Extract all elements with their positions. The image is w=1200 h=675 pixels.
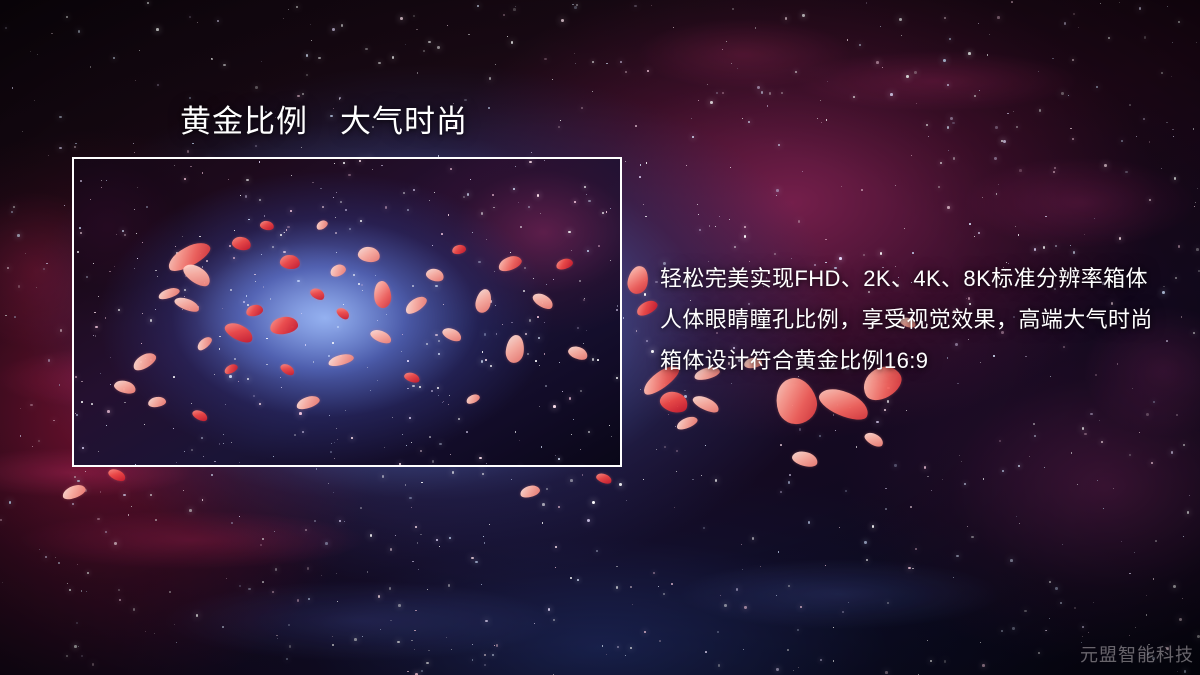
star [863, 254, 865, 256]
star [32, 446, 33, 447]
star [1182, 598, 1183, 599]
star [533, 278, 534, 279]
rose-petal [222, 319, 256, 346]
star [25, 253, 26, 254]
star [337, 326, 339, 328]
star [503, 14, 506, 17]
star [74, 645, 77, 648]
star [150, 319, 152, 321]
star [283, 232, 284, 233]
star [248, 588, 250, 590]
star [947, 126, 949, 128]
star [412, 385, 414, 387]
star [996, 193, 998, 195]
star [77, 564, 78, 565]
star [588, 431, 590, 433]
star [1162, 291, 1165, 294]
star [390, 620, 391, 621]
star [882, 67, 883, 68]
star [1090, 413, 1093, 416]
star [413, 189, 416, 192]
star [411, 507, 412, 508]
star [819, 435, 821, 437]
star [203, 456, 204, 457]
star [489, 524, 491, 526]
star [228, 179, 229, 180]
star [1074, 607, 1076, 609]
star [625, 161, 626, 162]
star [283, 18, 284, 19]
star [802, 14, 804, 16]
star [776, 668, 778, 670]
star [234, 358, 236, 360]
star [623, 317, 625, 319]
star [744, 235, 747, 238]
star [333, 197, 334, 198]
star [76, 622, 78, 624]
star [150, 494, 153, 497]
star [884, 409, 886, 411]
star [189, 509, 192, 512]
star [142, 242, 144, 244]
star [438, 395, 439, 396]
star [59, 384, 60, 385]
star [776, 195, 777, 196]
star [916, 103, 917, 104]
star [644, 631, 646, 633]
star [701, 475, 702, 476]
rose-petal [357, 245, 381, 264]
star [560, 120, 561, 121]
star [196, 614, 199, 617]
rose-petal [245, 303, 264, 317]
star [105, 317, 106, 318]
star [124, 234, 126, 236]
star [7, 267, 9, 269]
star [797, 629, 799, 631]
star [980, 642, 981, 643]
star [192, 143, 194, 145]
star [239, 585, 242, 588]
star [616, 309, 618, 311]
star [1139, 432, 1140, 433]
star [510, 252, 511, 253]
star [778, 144, 780, 146]
star [34, 100, 35, 101]
star [1094, 218, 1096, 220]
star [438, 340, 440, 342]
star [105, 531, 107, 533]
star [482, 473, 484, 475]
star [686, 165, 687, 166]
star [1073, 251, 1075, 253]
star [409, 417, 411, 419]
star [969, 223, 971, 225]
star [367, 571, 368, 572]
star [100, 373, 101, 374]
star [426, 343, 428, 345]
star [275, 568, 277, 570]
star [206, 260, 208, 262]
star [428, 41, 431, 44]
star [778, 551, 780, 553]
star [377, 380, 378, 381]
star [290, 210, 292, 212]
star [1149, 199, 1151, 201]
star [798, 667, 799, 668]
rose-petal [465, 392, 481, 405]
star [1189, 495, 1190, 496]
star [821, 122, 823, 124]
star [716, 92, 718, 94]
star [378, 62, 380, 64]
star [979, 90, 980, 91]
star [485, 359, 487, 361]
star [539, 365, 540, 366]
star [1018, 234, 1020, 236]
star [561, 19, 564, 22]
star [800, 606, 802, 608]
star [596, 550, 598, 552]
star [780, 444, 782, 446]
star [202, 172, 204, 174]
star [574, 53, 575, 54]
star [86, 591, 88, 593]
star [1100, 3, 1101, 4]
star [1033, 423, 1035, 425]
star [592, 358, 594, 360]
star [402, 334, 403, 335]
star [337, 601, 338, 602]
star [848, 602, 849, 603]
star [507, 36, 508, 37]
star [339, 97, 341, 99]
star [555, 567, 556, 568]
star [1129, 454, 1131, 456]
star [222, 626, 224, 628]
star [1161, 72, 1163, 74]
star [362, 636, 363, 637]
star [263, 286, 265, 288]
star [490, 365, 492, 367]
star [742, 569, 743, 570]
star [259, 161, 261, 163]
star [1135, 627, 1136, 628]
star [482, 351, 484, 353]
star [788, 481, 790, 483]
star [156, 28, 159, 31]
star [1052, 58, 1054, 60]
star [261, 61, 262, 62]
star [344, 521, 345, 522]
star [542, 503, 545, 506]
star [333, 492, 334, 493]
star [98, 451, 99, 452]
star [370, 534, 373, 537]
star [274, 531, 275, 532]
rose-petal [441, 325, 464, 344]
star [412, 561, 414, 563]
star [736, 588, 739, 591]
star [887, 400, 890, 403]
star [616, 377, 618, 379]
star [211, 58, 212, 59]
star [899, 18, 902, 21]
star [664, 446, 666, 448]
star [709, 225, 710, 226]
star [833, 414, 835, 416]
star [406, 445, 407, 446]
star [95, 335, 97, 337]
star [114, 542, 117, 545]
star [511, 41, 514, 44]
star [1062, 544, 1063, 545]
star [1173, 585, 1176, 588]
star [496, 644, 499, 647]
star [995, 126, 998, 129]
star [1070, 245, 1071, 246]
star [305, 344, 307, 346]
star [534, 623, 535, 624]
star [66, 16, 68, 18]
star [1144, 36, 1146, 38]
star [1193, 332, 1195, 334]
star [451, 649, 452, 650]
star [574, 6, 577, 9]
star [698, 100, 699, 101]
star [60, 329, 63, 332]
star [53, 420, 55, 422]
star [435, 334, 438, 337]
star [606, 211, 608, 213]
star [297, 95, 300, 98]
star [328, 483, 329, 484]
star [707, 84, 708, 85]
star [956, 555, 959, 558]
star [471, 557, 474, 560]
star [692, 479, 694, 481]
star [335, 217, 336, 218]
star [361, 284, 363, 286]
star [399, 463, 401, 465]
star [176, 462, 177, 463]
star [573, 419, 574, 420]
star [225, 404, 226, 405]
star [412, 285, 414, 287]
star [314, 520, 316, 522]
star [337, 439, 338, 440]
star [110, 357, 111, 358]
star [726, 41, 727, 42]
star [76, 414, 78, 416]
star [37, 54, 38, 55]
rose-petal [634, 298, 659, 318]
star [463, 196, 465, 198]
star [1129, 104, 1131, 106]
star [580, 390, 583, 393]
star [1146, 595, 1147, 596]
star [552, 79, 553, 80]
body-line-3: 箱体设计符合黄金比例16:9 [660, 340, 1153, 381]
star [72, 503, 74, 505]
star [1019, 523, 1020, 524]
rose-petal [223, 362, 239, 375]
star [135, 464, 136, 465]
star [442, 402, 443, 403]
star [286, 229, 288, 231]
star [1175, 277, 1177, 279]
star [281, 387, 282, 388]
rose-petal [691, 392, 721, 415]
star [930, 660, 932, 662]
star [890, 93, 893, 96]
star [710, 101, 713, 104]
rose-petal [497, 253, 524, 273]
star [155, 519, 157, 521]
star [428, 650, 430, 652]
star [730, 167, 731, 168]
star [931, 490, 932, 491]
star [1176, 414, 1178, 416]
star [1104, 164, 1107, 167]
star [336, 428, 337, 429]
star [144, 424, 145, 425]
star [312, 182, 314, 184]
star [470, 179, 471, 180]
star [411, 442, 412, 443]
star [2, 582, 3, 583]
star [774, 253, 776, 255]
star [418, 569, 420, 571]
star [330, 451, 332, 453]
star [74, 476, 77, 479]
star [211, 58, 213, 60]
star [118, 589, 120, 591]
star [574, 201, 576, 203]
star [1143, 118, 1145, 120]
star [742, 118, 744, 120]
star [334, 163, 335, 164]
star [223, 443, 224, 444]
star [405, 44, 406, 45]
star [1096, 86, 1098, 88]
star [106, 180, 107, 181]
star [1108, 37, 1110, 39]
star [544, 353, 545, 354]
star [636, 330, 638, 332]
star [703, 527, 705, 529]
star [798, 220, 801, 223]
star [494, 645, 495, 646]
star [528, 206, 530, 208]
star [77, 480, 79, 482]
star [598, 245, 600, 247]
star [663, 593, 665, 595]
star [400, 17, 403, 20]
star [288, 9, 290, 11]
star [479, 457, 481, 459]
star [106, 425, 107, 426]
star [885, 488, 887, 490]
star [982, 664, 985, 667]
star [895, 185, 896, 186]
star [39, 549, 40, 550]
star [535, 360, 537, 362]
star [539, 406, 540, 407]
star [1113, 488, 1114, 489]
star [450, 454, 451, 455]
star [676, 471, 677, 472]
star [1129, 573, 1131, 575]
star [880, 252, 882, 254]
star [674, 507, 675, 508]
star [1016, 516, 1017, 517]
star [691, 118, 692, 119]
star [924, 466, 927, 469]
star [647, 70, 649, 72]
star [1093, 602, 1094, 603]
star [1097, 480, 1099, 482]
star [288, 624, 290, 626]
star [223, 434, 224, 435]
star [381, 165, 383, 167]
star [845, 490, 847, 492]
star [583, 299, 585, 301]
star [407, 388, 409, 390]
star [321, 575, 322, 576]
star [328, 355, 330, 357]
star [950, 117, 953, 120]
star [191, 449, 193, 451]
star [720, 595, 721, 596]
star [1129, 635, 1130, 636]
star [953, 577, 954, 578]
star [402, 434, 403, 435]
star [741, 544, 742, 545]
star [722, 92, 724, 94]
star [906, 410, 907, 411]
star [537, 194, 539, 196]
star [914, 71, 917, 74]
star [272, 591, 274, 593]
star [95, 326, 98, 329]
star [519, 440, 520, 441]
star [51, 33, 53, 35]
star [109, 271, 111, 273]
star [540, 213, 541, 214]
star [1183, 536, 1184, 537]
star [1196, 248, 1199, 251]
star [90, 66, 92, 68]
star [55, 557, 56, 558]
star [1167, 6, 1168, 7]
star [297, 599, 300, 602]
body-line-1: 轻松完美实现FHD、2K、4K、8K标准分辨率箱体 [660, 258, 1153, 299]
star [755, 27, 756, 28]
star [9, 501, 12, 504]
rose-petal [566, 344, 589, 363]
star [184, 178, 186, 180]
star [100, 491, 101, 492]
star [592, 61, 594, 63]
star [1001, 630, 1004, 633]
star [340, 201, 342, 203]
star [525, 333, 527, 335]
star [93, 263, 94, 264]
star [894, 464, 896, 466]
star [466, 431, 468, 433]
star [944, 17, 946, 19]
